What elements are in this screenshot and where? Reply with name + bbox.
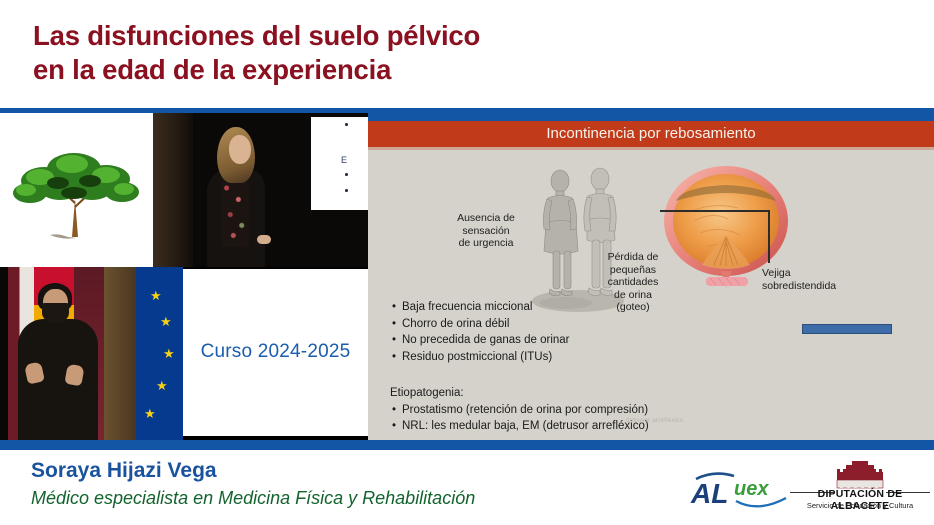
slide-watermark-text: detrusor arrefléxico (626, 418, 683, 424)
vejiga-leader-line-horizontal (660, 210, 770, 212)
auditorium-wall (153, 113, 193, 267)
etiopatogenia-heading: Etiopatogenia: (390, 385, 750, 402)
bullet-dot (345, 189, 348, 192)
slide-symptom-bullets: Baja frecuencia miccional Chorro de orin… (390, 299, 720, 365)
diputacion-subtitle: Servicio de Educación y Cultura (790, 501, 930, 510)
bullet-item: Residuo postmiccional (ITUs) (390, 349, 720, 366)
slide-blue-accent-bar (802, 324, 892, 334)
footer-blue-divider (0, 440, 934, 450)
video-composite-stage: E ★ ★ ★ ★ ★ Curso 2024-2025 Incontinenci… (0, 113, 934, 440)
vejiga-leader-line-vertical (768, 211, 770, 263)
woman-face (229, 135, 251, 164)
tree-slide-panel[interactable] (0, 113, 153, 267)
stage-backdrop (104, 267, 136, 440)
tree-icon (2, 137, 151, 243)
slide-header-title: Incontinencia por rebosamiento (368, 121, 934, 147)
bullet-dot (345, 123, 348, 126)
presentation-slide[interactable]: Incontinencia por rebosamiento (368, 113, 934, 440)
label-vejiga-sobredistendida: Vejiga sobredistendida (762, 267, 856, 292)
title-area: Las disfunciones del suelo pélvico en la… (0, 0, 934, 108)
speaker-woman-video-panel[interactable] (153, 113, 308, 267)
slide-fragment-white: E (311, 117, 368, 210)
slide-header-underline (368, 147, 934, 150)
diputacion-albacete-logo[interactable]: DIPUTACIÓN DE ALBACETE Servicio de Educa… (790, 458, 930, 518)
flag-european-union: ★ ★ ★ ★ ★ (136, 267, 183, 440)
slide-etiopatogenia-section: Etiopatogenia: Prostatismo (retención de… (390, 385, 750, 435)
bullet-item: Chorro de orina débil (390, 316, 720, 333)
palacio-crest-icon (790, 458, 930, 490)
woman-blouse (221, 175, 249, 247)
aluex-logo-al: AL (690, 478, 728, 509)
slide-top-blue-bar (368, 113, 934, 121)
bullet-item: NRL: les medular baja, EM (detrusor arre… (390, 418, 750, 435)
aluex-logo[interactable]: AL uex (690, 471, 794, 513)
speaker-man-video-panel[interactable]: ★ ★ ★ ★ ★ (0, 267, 183, 440)
slide-fragment-panel[interactable]: E (308, 113, 368, 267)
speaker-role: Médico especialista en Medicina Física y… (31, 488, 475, 509)
curso-slide-panel[interactable]: Curso 2024-2025 (183, 269, 368, 436)
man-beard (42, 303, 69, 323)
label-ausencia-urgencia: Ausencia de sensación de urgencia (446, 212, 526, 250)
slide-fragment-letter: E (341, 155, 347, 165)
curso-label: Curso 2024-2025 (183, 341, 368, 363)
bullet-item: Prostatismo (retención de orina por comp… (390, 402, 750, 419)
bullet-item: Baja frecuencia miccional (390, 299, 720, 316)
aluex-logo-uex: uex (734, 478, 769, 500)
page-title: Las disfunciones del suelo pélvico en la… (33, 19, 480, 87)
woman-hand (257, 235, 271, 244)
bullet-item: No precedida de ganas de orinar (390, 332, 720, 349)
bullet-dot (345, 173, 348, 176)
speaker-name: Soraya Hijazi Vega (31, 459, 217, 483)
